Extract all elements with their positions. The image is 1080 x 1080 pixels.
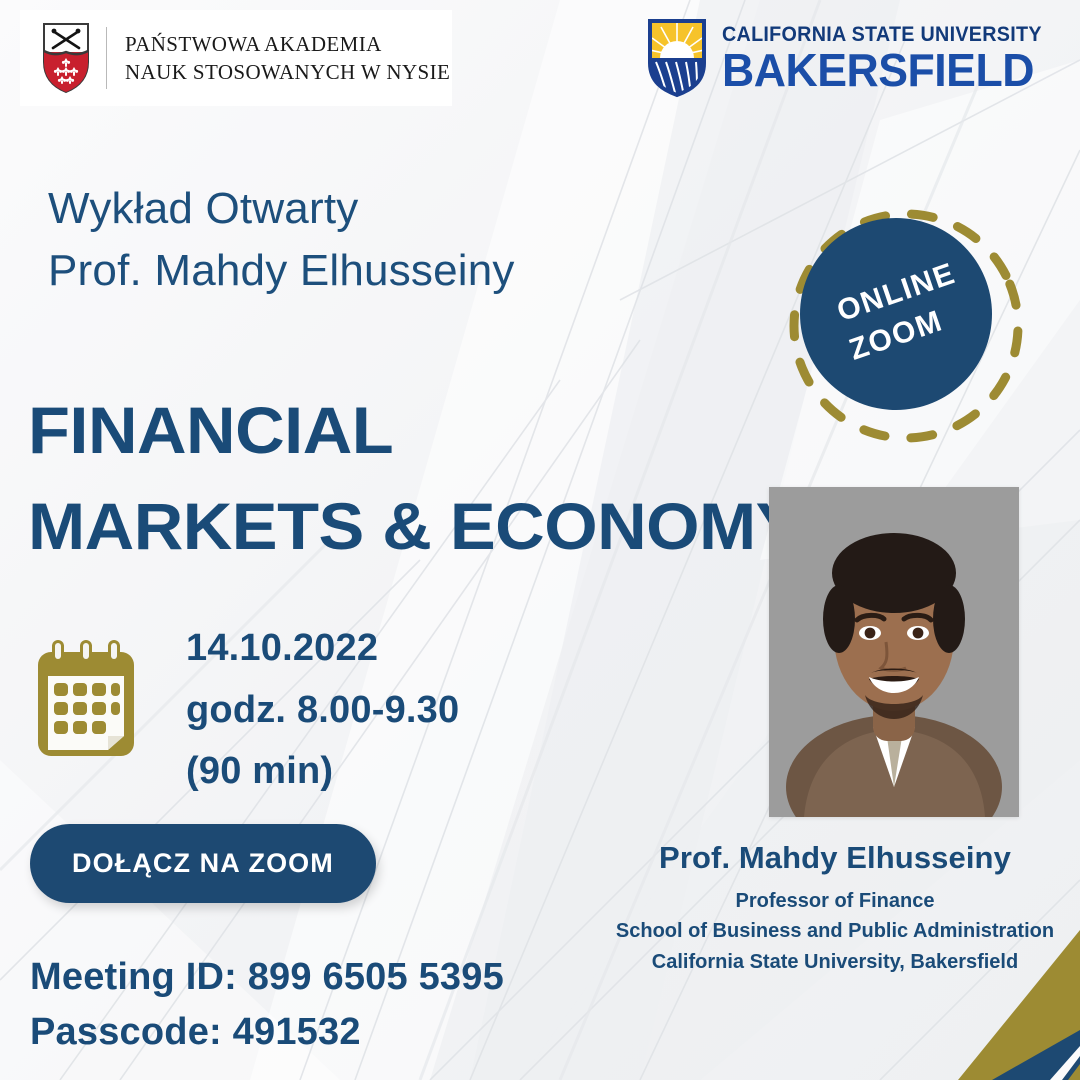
csub-logo-text: CALIFORNIA STATE UNIVERSITY BAKERSFIELD <box>722 24 1062 93</box>
schedule-text: 14.10.2022 godz. 8.00-9.30 (90 min) <box>186 618 459 803</box>
title-line-2: MARKETS & ECONOMY <box>28 478 801 574</box>
speaker-name: Prof. Mahdy Elhusseiny <box>600 840 1070 876</box>
pans-logo: PAŃSTWOWA AKADEMIA NAUK STOSOWANYCH W NY… <box>20 10 452 106</box>
page-title: FINANCIAL MARKETS & ECONOMY <box>28 382 801 575</box>
meeting-id: Meeting ID: 899 6505 5395 <box>30 950 504 1005</box>
schedule-block: 14.10.2022 godz. 8.00-9.30 (90 min) <box>30 618 459 803</box>
sun-over-field-shield-icon <box>646 18 708 98</box>
poster-canvas: PAŃSTWOWA AKADEMIA NAUK STOSOWANYCH W NY… <box>0 0 1080 1080</box>
heraldic-shield-icon <box>42 22 90 94</box>
speaker-portrait-photo <box>769 487 1019 817</box>
csub-logo-line2: BAKERSFIELD <box>722 47 1052 93</box>
pans-logo-line1: PAŃSTWOWA AKADEMIA <box>125 30 450 58</box>
badge-circle: ONLINE ZOOM <box>800 218 992 410</box>
lecture-speaker: Prof. Mahdy Elhusseiny <box>48 240 515 302</box>
pans-logo-line2: NAUK STOSOWANYCH W NYSIE <box>125 58 450 86</box>
schedule-date: 14.10.2022 <box>186 618 459 680</box>
meeting-credentials: Meeting ID: 899 6505 5395 Passcode: 4915… <box>30 950 504 1060</box>
pans-logo-text: PAŃSTWOWA AKADEMIA NAUK STOSOWANYCH W NY… <box>125 30 450 86</box>
calendar-icon <box>30 636 142 764</box>
lecture-label: Wykład Otwarty <box>48 178 515 240</box>
csub-logo: CALIFORNIA STATE UNIVERSITY BAKERSFIELD <box>646 14 1062 102</box>
lecture-heading: Wykład Otwarty Prof. Mahdy Elhusseiny <box>48 178 515 303</box>
meeting-passcode: Passcode: 491532 <box>30 1005 504 1060</box>
corner-decoration <box>900 900 1080 1080</box>
logo-divider <box>106 27 107 89</box>
speaker-portrait <box>769 487 1019 817</box>
title-line-1: FINANCIAL <box>28 382 801 478</box>
schedule-duration: (90 min) <box>186 741 459 803</box>
online-zoom-badge: ONLINE ZOOM <box>766 200 1041 462</box>
join-zoom-button[interactable]: DOŁĄCZ NA ZOOM <box>30 824 376 903</box>
schedule-time: godz. 8.00-9.30 <box>186 680 459 742</box>
csub-logo-line1: CALIFORNIA STATE UNIVERSITY <box>722 24 1042 45</box>
